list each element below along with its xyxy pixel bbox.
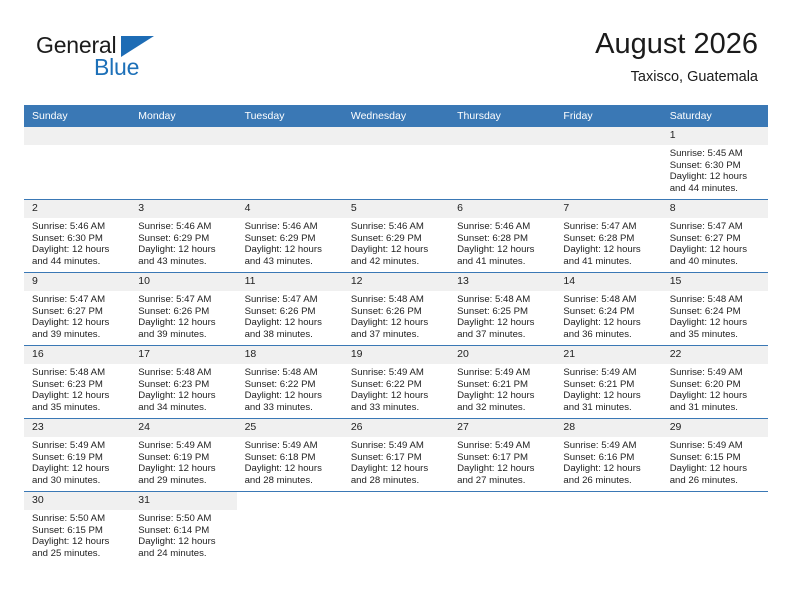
day-sunrise-text: Sunrise: 5:46 AM xyxy=(138,221,230,233)
calendar-week-row: 16Sunrise: 5:48 AMSunset: 6:23 PMDayligh… xyxy=(24,346,768,419)
day-daylight-line2-text: and 31 minutes. xyxy=(670,402,762,414)
calendar-cell-empty xyxy=(555,127,661,200)
day-daylight-line1-text: Daylight: 12 hours xyxy=(32,536,124,548)
calendar-cell-empty xyxy=(237,492,343,565)
day-sunrise-text: Sunrise: 5:49 AM xyxy=(457,440,549,452)
page-title: August 2026 xyxy=(595,26,758,62)
day-number: 2 xyxy=(24,200,130,218)
calendar-week-row: 9Sunrise: 5:47 AMSunset: 6:27 PMDaylight… xyxy=(24,273,768,346)
day-details: Sunrise: 5:47 AMSunset: 6:26 PMDaylight:… xyxy=(237,291,343,340)
day-sunrise-text: Sunrise: 5:47 AM xyxy=(563,221,655,233)
day-sunset-text: Sunset: 6:16 PM xyxy=(563,452,655,464)
calendar-body: 1Sunrise: 5:45 AMSunset: 6:30 PMDaylight… xyxy=(24,127,768,564)
day-daylight-line2-text: and 34 minutes. xyxy=(138,402,230,414)
day-daylight-line2-text: and 41 minutes. xyxy=(563,256,655,268)
day-sunrise-text: Sunrise: 5:48 AM xyxy=(563,294,655,306)
day-number: 20 xyxy=(449,346,555,364)
day-number xyxy=(24,127,130,145)
day-daylight-line1-text: Daylight: 12 hours xyxy=(670,463,762,475)
day-details: Sunrise: 5:49 AMSunset: 6:19 PMDaylight:… xyxy=(130,437,236,486)
day-sunset-text: Sunset: 6:25 PM xyxy=(457,306,549,318)
day-daylight-line1-text: Daylight: 12 hours xyxy=(138,317,230,329)
calendar-day-cell[interactable]: 13Sunrise: 5:48 AMSunset: 6:25 PMDayligh… xyxy=(449,273,555,346)
day-details: Sunrise: 5:45 AMSunset: 6:30 PMDaylight:… xyxy=(662,145,768,194)
day-daylight-line2-text: and 35 minutes. xyxy=(32,402,124,414)
calendar-header-row: Sunday Monday Tuesday Wednesday Thursday… xyxy=(24,105,768,127)
day-number: 23 xyxy=(24,419,130,437)
day-number: 24 xyxy=(130,419,236,437)
calendar-day-cell[interactable]: 19Sunrise: 5:49 AMSunset: 6:22 PMDayligh… xyxy=(343,346,449,419)
day-sunset-text: Sunset: 6:28 PM xyxy=(457,233,549,245)
calendar-day-cell[interactable]: 24Sunrise: 5:49 AMSunset: 6:19 PMDayligh… xyxy=(130,419,236,492)
day-number: 13 xyxy=(449,273,555,291)
day-number xyxy=(449,127,555,145)
day-number: 30 xyxy=(24,492,130,510)
day-sunset-text: Sunset: 6:22 PM xyxy=(245,379,337,391)
day-number: 29 xyxy=(662,419,768,437)
day-number xyxy=(555,127,661,145)
day-sunset-text: Sunset: 6:18 PM xyxy=(245,452,337,464)
calendar-day-cell[interactable]: 17Sunrise: 5:48 AMSunset: 6:23 PMDayligh… xyxy=(130,346,236,419)
day-details: Sunrise: 5:47 AMSunset: 6:26 PMDaylight:… xyxy=(130,291,236,340)
day-sunrise-text: Sunrise: 5:48 AM xyxy=(32,367,124,379)
day-sunrise-text: Sunrise: 5:47 AM xyxy=(670,221,762,233)
day-daylight-line1-text: Daylight: 12 hours xyxy=(351,317,443,329)
day-sunset-text: Sunset: 6:15 PM xyxy=(670,452,762,464)
day-daylight-line1-text: Daylight: 12 hours xyxy=(457,317,549,329)
day-daylight-line1-text: Daylight: 12 hours xyxy=(138,536,230,548)
day-daylight-line2-text: and 44 minutes. xyxy=(670,183,762,195)
calendar-day-cell[interactable]: 25Sunrise: 5:49 AMSunset: 6:18 PMDayligh… xyxy=(237,419,343,492)
day-daylight-line2-text: and 37 minutes. xyxy=(457,329,549,341)
calendar-day-cell[interactable]: 14Sunrise: 5:48 AMSunset: 6:24 PMDayligh… xyxy=(555,273,661,346)
day-number xyxy=(343,127,449,145)
day-daylight-line2-text: and 25 minutes. xyxy=(32,548,124,560)
day-number: 28 xyxy=(555,419,661,437)
day-sunrise-text: Sunrise: 5:50 AM xyxy=(32,513,124,525)
day-sunset-text: Sunset: 6:28 PM xyxy=(563,233,655,245)
day-daylight-line2-text: and 28 minutes. xyxy=(351,475,443,487)
day-details: Sunrise: 5:49 AMSunset: 6:21 PMDaylight:… xyxy=(449,364,555,413)
page-header: General Blue August 2026 Taxisco, Guatem… xyxy=(24,26,768,100)
day-number: 3 xyxy=(130,200,236,218)
day-number: 21 xyxy=(555,346,661,364)
day-sunrise-text: Sunrise: 5:48 AM xyxy=(351,294,443,306)
day-number: 27 xyxy=(449,419,555,437)
day-number: 4 xyxy=(237,200,343,218)
day-daylight-line2-text: and 27 minutes. xyxy=(457,475,549,487)
calendar-day-cell[interactable]: 5Sunrise: 5:46 AMSunset: 6:29 PMDaylight… xyxy=(343,200,449,273)
day-sunset-text: Sunset: 6:27 PM xyxy=(32,306,124,318)
day-sunrise-text: Sunrise: 5:46 AM xyxy=(457,221,549,233)
day-sunrise-text: Sunrise: 5:49 AM xyxy=(351,367,443,379)
day-sunset-text: Sunset: 6:24 PM xyxy=(563,306,655,318)
day-daylight-line1-text: Daylight: 12 hours xyxy=(670,317,762,329)
calendar-day-cell[interactable]: 29Sunrise: 5:49 AMSunset: 6:15 PMDayligh… xyxy=(662,419,768,492)
day-sunset-text: Sunset: 6:26 PM xyxy=(138,306,230,318)
day-number xyxy=(130,127,236,145)
weekday-header-thursday: Thursday xyxy=(449,105,555,127)
day-daylight-line2-text: and 31 minutes. xyxy=(563,402,655,414)
calendar-week-row: 2Sunrise: 5:46 AMSunset: 6:30 PMDaylight… xyxy=(24,200,768,273)
calendar-day-cell[interactable]: 22Sunrise: 5:49 AMSunset: 6:20 PMDayligh… xyxy=(662,346,768,419)
day-details: Sunrise: 5:49 AMSunset: 6:16 PMDaylight:… xyxy=(555,437,661,486)
day-details: Sunrise: 5:46 AMSunset: 6:29 PMDaylight:… xyxy=(343,218,449,267)
day-sunset-text: Sunset: 6:26 PM xyxy=(351,306,443,318)
calendar-cell-empty xyxy=(449,127,555,200)
day-details: Sunrise: 5:47 AMSunset: 6:27 PMDaylight:… xyxy=(24,291,130,340)
day-daylight-line1-text: Daylight: 12 hours xyxy=(245,244,337,256)
day-number: 9 xyxy=(24,273,130,291)
calendar-day-cell[interactable]: 27Sunrise: 5:49 AMSunset: 6:17 PMDayligh… xyxy=(449,419,555,492)
calendar-table: Sunday Monday Tuesday Wednesday Thursday… xyxy=(24,105,768,564)
day-sunrise-text: Sunrise: 5:49 AM xyxy=(138,440,230,452)
day-daylight-line1-text: Daylight: 12 hours xyxy=(32,317,124,329)
day-daylight-line1-text: Daylight: 12 hours xyxy=(32,463,124,475)
day-number: 12 xyxy=(343,273,449,291)
day-details: Sunrise: 5:48 AMSunset: 6:26 PMDaylight:… xyxy=(343,291,449,340)
day-daylight-line1-text: Daylight: 12 hours xyxy=(563,390,655,402)
day-details: Sunrise: 5:48 AMSunset: 6:22 PMDaylight:… xyxy=(237,364,343,413)
day-number: 22 xyxy=(662,346,768,364)
day-daylight-line2-text: and 41 minutes. xyxy=(457,256,549,268)
day-details: Sunrise: 5:49 AMSunset: 6:21 PMDaylight:… xyxy=(555,364,661,413)
title-block: August 2026 Taxisco, Guatemala xyxy=(595,26,758,87)
day-number: 14 xyxy=(555,273,661,291)
day-sunrise-text: Sunrise: 5:48 AM xyxy=(670,294,762,306)
day-daylight-line2-text: and 32 minutes. xyxy=(457,402,549,414)
calendar-day-cell[interactable]: 9Sunrise: 5:47 AMSunset: 6:27 PMDaylight… xyxy=(24,273,130,346)
calendar-week-row: 23Sunrise: 5:49 AMSunset: 6:19 PMDayligh… xyxy=(24,419,768,492)
day-daylight-line2-text: and 33 minutes. xyxy=(351,402,443,414)
calendar-cell-empty xyxy=(130,127,236,200)
day-sunset-text: Sunset: 6:15 PM xyxy=(32,525,124,537)
day-sunset-text: Sunset: 6:17 PM xyxy=(457,452,549,464)
day-details: Sunrise: 5:50 AMSunset: 6:15 PMDaylight:… xyxy=(24,510,130,559)
day-sunset-text: Sunset: 6:29 PM xyxy=(245,233,337,245)
calendar-day-cell[interactable]: 2Sunrise: 5:46 AMSunset: 6:30 PMDaylight… xyxy=(24,200,130,273)
day-details: Sunrise: 5:47 AMSunset: 6:27 PMDaylight:… xyxy=(662,218,768,267)
day-details: Sunrise: 5:48 AMSunset: 6:23 PMDaylight:… xyxy=(130,364,236,413)
day-daylight-line2-text: and 29 minutes. xyxy=(138,475,230,487)
calendar-cell-empty xyxy=(343,492,449,565)
day-daylight-line1-text: Daylight: 12 hours xyxy=(32,244,124,256)
day-number: 16 xyxy=(24,346,130,364)
day-sunrise-text: Sunrise: 5:47 AM xyxy=(245,294,337,306)
calendar-day-cell[interactable]: 16Sunrise: 5:48 AMSunset: 6:23 PMDayligh… xyxy=(24,346,130,419)
day-sunrise-text: Sunrise: 5:46 AM xyxy=(351,221,443,233)
calendar-cell-empty xyxy=(662,492,768,565)
day-daylight-line1-text: Daylight: 12 hours xyxy=(138,463,230,475)
day-sunset-text: Sunset: 6:27 PM xyxy=(670,233,762,245)
page-subtitle: Taxisco, Guatemala xyxy=(595,67,758,87)
day-daylight-line1-text: Daylight: 12 hours xyxy=(563,317,655,329)
day-details: Sunrise: 5:48 AMSunset: 6:25 PMDaylight:… xyxy=(449,291,555,340)
calendar-day-cell[interactable]: 1Sunrise: 5:45 AMSunset: 6:30 PMDaylight… xyxy=(662,127,768,200)
weekday-header-sunday: Sunday xyxy=(24,105,130,127)
day-daylight-line1-text: Daylight: 12 hours xyxy=(351,463,443,475)
day-daylight-line1-text: Daylight: 12 hours xyxy=(670,171,762,183)
day-details: Sunrise: 5:47 AMSunset: 6:28 PMDaylight:… xyxy=(555,218,661,267)
day-daylight-line2-text: and 44 minutes. xyxy=(32,256,124,268)
day-number: 8 xyxy=(662,200,768,218)
day-number: 11 xyxy=(237,273,343,291)
weekday-header-friday: Friday xyxy=(555,105,661,127)
day-details: Sunrise: 5:46 AMSunset: 6:30 PMDaylight:… xyxy=(24,218,130,267)
calendar-day-cell[interactable]: 28Sunrise: 5:49 AMSunset: 6:16 PMDayligh… xyxy=(555,419,661,492)
day-sunset-text: Sunset: 6:17 PM xyxy=(351,452,443,464)
day-sunrise-text: Sunrise: 5:46 AM xyxy=(245,221,337,233)
day-daylight-line2-text: and 28 minutes. xyxy=(245,475,337,487)
calendar-cell-empty xyxy=(24,127,130,200)
day-sunrise-text: Sunrise: 5:49 AM xyxy=(563,440,655,452)
day-daylight-line1-text: Daylight: 12 hours xyxy=(457,244,549,256)
calendar-day-cell[interactable]: 26Sunrise: 5:49 AMSunset: 6:17 PMDayligh… xyxy=(343,419,449,492)
day-sunrise-text: Sunrise: 5:49 AM xyxy=(457,367,549,379)
day-daylight-line2-text: and 39 minutes. xyxy=(138,329,230,341)
day-sunset-text: Sunset: 6:26 PM xyxy=(245,306,337,318)
day-number: 17 xyxy=(130,346,236,364)
day-daylight-line2-text: and 43 minutes. xyxy=(245,256,337,268)
logo-text-blue: Blue xyxy=(94,54,139,80)
calendar-cell-empty xyxy=(449,492,555,565)
day-sunrise-text: Sunrise: 5:47 AM xyxy=(32,294,124,306)
day-daylight-line2-text: and 26 minutes. xyxy=(670,475,762,487)
day-daylight-line2-text: and 26 minutes. xyxy=(563,475,655,487)
day-daylight-line2-text: and 43 minutes. xyxy=(138,256,230,268)
general-blue-logo[interactable]: General Blue xyxy=(36,32,236,92)
calendar-day-cell[interactable]: 18Sunrise: 5:48 AMSunset: 6:22 PMDayligh… xyxy=(237,346,343,419)
day-number: 7 xyxy=(555,200,661,218)
day-number: 10 xyxy=(130,273,236,291)
day-daylight-line2-text: and 30 minutes. xyxy=(32,475,124,487)
day-details: Sunrise: 5:46 AMSunset: 6:28 PMDaylight:… xyxy=(449,218,555,267)
day-sunset-text: Sunset: 6:19 PM xyxy=(138,452,230,464)
day-number: 25 xyxy=(237,419,343,437)
day-number: 19 xyxy=(343,346,449,364)
calendar-day-cell[interactable]: 4Sunrise: 5:46 AMSunset: 6:29 PMDaylight… xyxy=(237,200,343,273)
day-sunset-text: Sunset: 6:23 PM xyxy=(32,379,124,391)
day-details: Sunrise: 5:49 AMSunset: 6:17 PMDaylight:… xyxy=(343,437,449,486)
calendar-day-cell[interactable]: 30Sunrise: 5:50 AMSunset: 6:15 PMDayligh… xyxy=(24,492,130,565)
day-details: Sunrise: 5:49 AMSunset: 6:22 PMDaylight:… xyxy=(343,364,449,413)
day-sunrise-text: Sunrise: 5:45 AM xyxy=(670,148,762,160)
day-details: Sunrise: 5:49 AMSunset: 6:20 PMDaylight:… xyxy=(662,364,768,413)
day-sunset-text: Sunset: 6:23 PM xyxy=(138,379,230,391)
calendar-page: General Blue August 2026 Taxisco, Guatem… xyxy=(0,0,792,612)
day-daylight-line2-text: and 35 minutes. xyxy=(670,329,762,341)
calendar-week-row: 30Sunrise: 5:50 AMSunset: 6:15 PMDayligh… xyxy=(24,492,768,565)
calendar-day-cell[interactable]: 11Sunrise: 5:47 AMSunset: 6:26 PMDayligh… xyxy=(237,273,343,346)
day-details: Sunrise: 5:48 AMSunset: 6:23 PMDaylight:… xyxy=(24,364,130,413)
day-sunrise-text: Sunrise: 5:49 AM xyxy=(32,440,124,452)
day-sunset-text: Sunset: 6:29 PM xyxy=(138,233,230,245)
day-daylight-line1-text: Daylight: 12 hours xyxy=(457,463,549,475)
calendar-day-cell[interactable]: 6Sunrise: 5:46 AMSunset: 6:28 PMDaylight… xyxy=(449,200,555,273)
day-details: Sunrise: 5:48 AMSunset: 6:24 PMDaylight:… xyxy=(555,291,661,340)
day-details: Sunrise: 5:48 AMSunset: 6:24 PMDaylight:… xyxy=(662,291,768,340)
day-daylight-line1-text: Daylight: 12 hours xyxy=(563,244,655,256)
calendar-week-row: 1Sunrise: 5:45 AMSunset: 6:30 PMDaylight… xyxy=(24,127,768,200)
day-daylight-line2-text: and 33 minutes. xyxy=(245,402,337,414)
day-daylight-line2-text: and 38 minutes. xyxy=(245,329,337,341)
calendar-day-cell[interactable]: 8Sunrise: 5:47 AMSunset: 6:27 PMDaylight… xyxy=(662,200,768,273)
weekday-header-tuesday: Tuesday xyxy=(237,105,343,127)
day-number: 31 xyxy=(130,492,236,510)
day-details: Sunrise: 5:46 AMSunset: 6:29 PMDaylight:… xyxy=(237,218,343,267)
weekday-header-wednesday: Wednesday xyxy=(343,105,449,127)
weekday-header-saturday: Saturday xyxy=(662,105,768,127)
day-sunset-text: Sunset: 6:21 PM xyxy=(457,379,549,391)
calendar-day-cell[interactable]: 20Sunrise: 5:49 AMSunset: 6:21 PMDayligh… xyxy=(449,346,555,419)
calendar-day-cell[interactable]: 10Sunrise: 5:47 AMSunset: 6:26 PMDayligh… xyxy=(130,273,236,346)
day-sunrise-text: Sunrise: 5:49 AM xyxy=(245,440,337,452)
day-sunset-text: Sunset: 6:19 PM xyxy=(32,452,124,464)
day-daylight-line2-text: and 36 minutes. xyxy=(563,329,655,341)
day-sunrise-text: Sunrise: 5:46 AM xyxy=(32,221,124,233)
day-sunset-text: Sunset: 6:14 PM xyxy=(138,525,230,537)
day-sunrise-text: Sunrise: 5:48 AM xyxy=(457,294,549,306)
day-daylight-line1-text: Daylight: 12 hours xyxy=(351,244,443,256)
day-sunset-text: Sunset: 6:29 PM xyxy=(351,233,443,245)
day-sunset-text: Sunset: 6:30 PM xyxy=(670,160,762,172)
day-sunset-text: Sunset: 6:22 PM xyxy=(351,379,443,391)
day-number: 15 xyxy=(662,273,768,291)
day-daylight-line1-text: Daylight: 12 hours xyxy=(138,244,230,256)
day-daylight-line1-text: Daylight: 12 hours xyxy=(245,390,337,402)
day-daylight-line1-text: Daylight: 12 hours xyxy=(457,390,549,402)
calendar-cell-empty xyxy=(555,492,661,565)
calendar-cell-empty xyxy=(237,127,343,200)
day-number: 1 xyxy=(662,127,768,145)
day-sunrise-text: Sunrise: 5:50 AM xyxy=(138,513,230,525)
weekday-header-row: Sunday Monday Tuesday Wednesday Thursday… xyxy=(24,105,768,127)
day-sunrise-text: Sunrise: 5:49 AM xyxy=(670,440,762,452)
day-sunrise-text: Sunrise: 5:48 AM xyxy=(138,367,230,379)
day-daylight-line1-text: Daylight: 12 hours xyxy=(138,390,230,402)
day-number: 18 xyxy=(237,346,343,364)
calendar-day-cell[interactable]: 21Sunrise: 5:49 AMSunset: 6:21 PMDayligh… xyxy=(555,346,661,419)
calendar-cell-empty xyxy=(343,127,449,200)
day-daylight-line2-text: and 42 minutes. xyxy=(351,256,443,268)
calendar-day-cell[interactable]: 3Sunrise: 5:46 AMSunset: 6:29 PMDaylight… xyxy=(130,200,236,273)
day-daylight-line2-text: and 37 minutes. xyxy=(351,329,443,341)
calendar-day-cell[interactable]: 31Sunrise: 5:50 AMSunset: 6:14 PMDayligh… xyxy=(130,492,236,565)
calendar-day-cell[interactable]: 7Sunrise: 5:47 AMSunset: 6:28 PMDaylight… xyxy=(555,200,661,273)
day-details: Sunrise: 5:49 AMSunset: 6:19 PMDaylight:… xyxy=(24,437,130,486)
day-daylight-line1-text: Daylight: 12 hours xyxy=(245,463,337,475)
day-sunset-text: Sunset: 6:24 PM xyxy=(670,306,762,318)
day-details: Sunrise: 5:50 AMSunset: 6:14 PMDaylight:… xyxy=(130,510,236,559)
day-daylight-line1-text: Daylight: 12 hours xyxy=(670,244,762,256)
day-daylight-line1-text: Daylight: 12 hours xyxy=(563,463,655,475)
day-sunset-text: Sunset: 6:20 PM xyxy=(670,379,762,391)
day-daylight-line2-text: and 24 minutes. xyxy=(138,548,230,560)
day-details: Sunrise: 5:49 AMSunset: 6:18 PMDaylight:… xyxy=(237,437,343,486)
day-daylight-line1-text: Daylight: 12 hours xyxy=(351,390,443,402)
day-number xyxy=(237,127,343,145)
day-daylight-line1-text: Daylight: 12 hours xyxy=(32,390,124,402)
weekday-header-monday: Monday xyxy=(130,105,236,127)
day-details: Sunrise: 5:49 AMSunset: 6:17 PMDaylight:… xyxy=(449,437,555,486)
day-number: 6 xyxy=(449,200,555,218)
day-sunrise-text: Sunrise: 5:47 AM xyxy=(138,294,230,306)
day-number: 5 xyxy=(343,200,449,218)
day-daylight-line1-text: Daylight: 12 hours xyxy=(670,390,762,402)
calendar-day-cell[interactable]: 12Sunrise: 5:48 AMSunset: 6:26 PMDayligh… xyxy=(343,273,449,346)
day-sunrise-text: Sunrise: 5:49 AM xyxy=(351,440,443,452)
day-daylight-line1-text: Daylight: 12 hours xyxy=(245,317,337,329)
day-details: Sunrise: 5:46 AMSunset: 6:29 PMDaylight:… xyxy=(130,218,236,267)
day-number: 26 xyxy=(343,419,449,437)
day-sunrise-text: Sunrise: 5:49 AM xyxy=(563,367,655,379)
day-sunset-text: Sunset: 6:21 PM xyxy=(563,379,655,391)
day-daylight-line2-text: and 40 minutes. xyxy=(670,256,762,268)
day-details: Sunrise: 5:49 AMSunset: 6:15 PMDaylight:… xyxy=(662,437,768,486)
day-sunset-text: Sunset: 6:30 PM xyxy=(32,233,124,245)
day-daylight-line2-text: and 39 minutes. xyxy=(32,329,124,341)
calendar-day-cell[interactable]: 23Sunrise: 5:49 AMSunset: 6:19 PMDayligh… xyxy=(24,419,130,492)
day-sunrise-text: Sunrise: 5:49 AM xyxy=(670,367,762,379)
day-sunrise-text: Sunrise: 5:48 AM xyxy=(245,367,337,379)
calendar-day-cell[interactable]: 15Sunrise: 5:48 AMSunset: 6:24 PMDayligh… xyxy=(662,273,768,346)
